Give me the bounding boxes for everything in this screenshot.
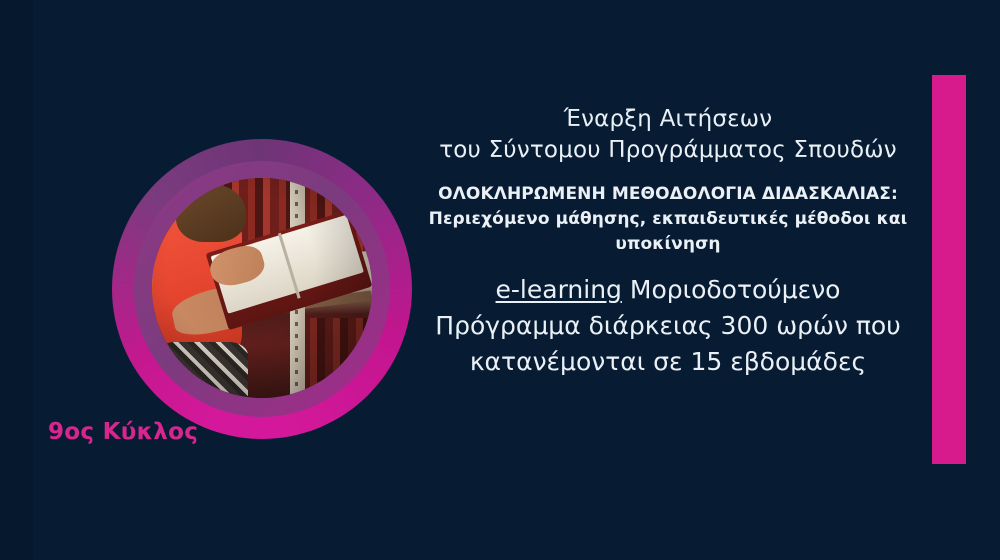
photo-vignette <box>152 178 372 398</box>
course-title-line-1: ΟΛΟΚΛΗΡΩΜΕΝΗ ΜΕΘΟΔΟΛΟΓΙΑ ΔΙΔΑΣΚΑΛΙΑΣ: <box>418 182 918 207</box>
course-title-line-3: υποκίνηση <box>418 232 918 257</box>
elearning-underlined-text: e-learning <box>496 275 622 304</box>
heading-line-2: του Σύντομου Προγράμματος Σπουδών <box>418 135 918 166</box>
course-title: ΟΛΟΚΛΗΡΩΜΕΝΗ ΜΕΘΟΔΟΛΟΓΙΑ ΔΙΔΑΣΚΑΛΙΑΣ: Πε… <box>418 182 918 257</box>
heading-line-1: Έναρξη Αιτήσεων <box>418 104 918 135</box>
course-details: e-learning Μοριοδοτούμενο Πρόγραμμα διάρ… <box>418 272 918 380</box>
library-photo <box>152 178 372 398</box>
details-line-1: e-learning Μοριοδοτούμενο <box>418 272 918 308</box>
text-column: Έναρξη Αιτήσεων του Σύντομου Προγράμματο… <box>418 104 918 380</box>
promo-slide: Έναρξη Αιτήσεων του Σύντομου Προγράμματο… <box>0 0 1000 560</box>
details-line-1-rest: Μοριοδοτούμενο <box>622 275 841 304</box>
details-line-2: Πρόγραμμα διάρκειας 300 ωρών που <box>418 308 918 344</box>
course-title-line-2: Περιεχόμενο μάθησης, εκπαιδευτικές μέθοδ… <box>418 207 918 232</box>
details-line-3: κατανέμονται σε 15 εβδομάδες <box>418 344 918 380</box>
right-accent-bar <box>932 75 966 464</box>
circular-photo-badge <box>112 139 412 439</box>
cycle-label: 9ος Κύκλος <box>48 419 198 445</box>
